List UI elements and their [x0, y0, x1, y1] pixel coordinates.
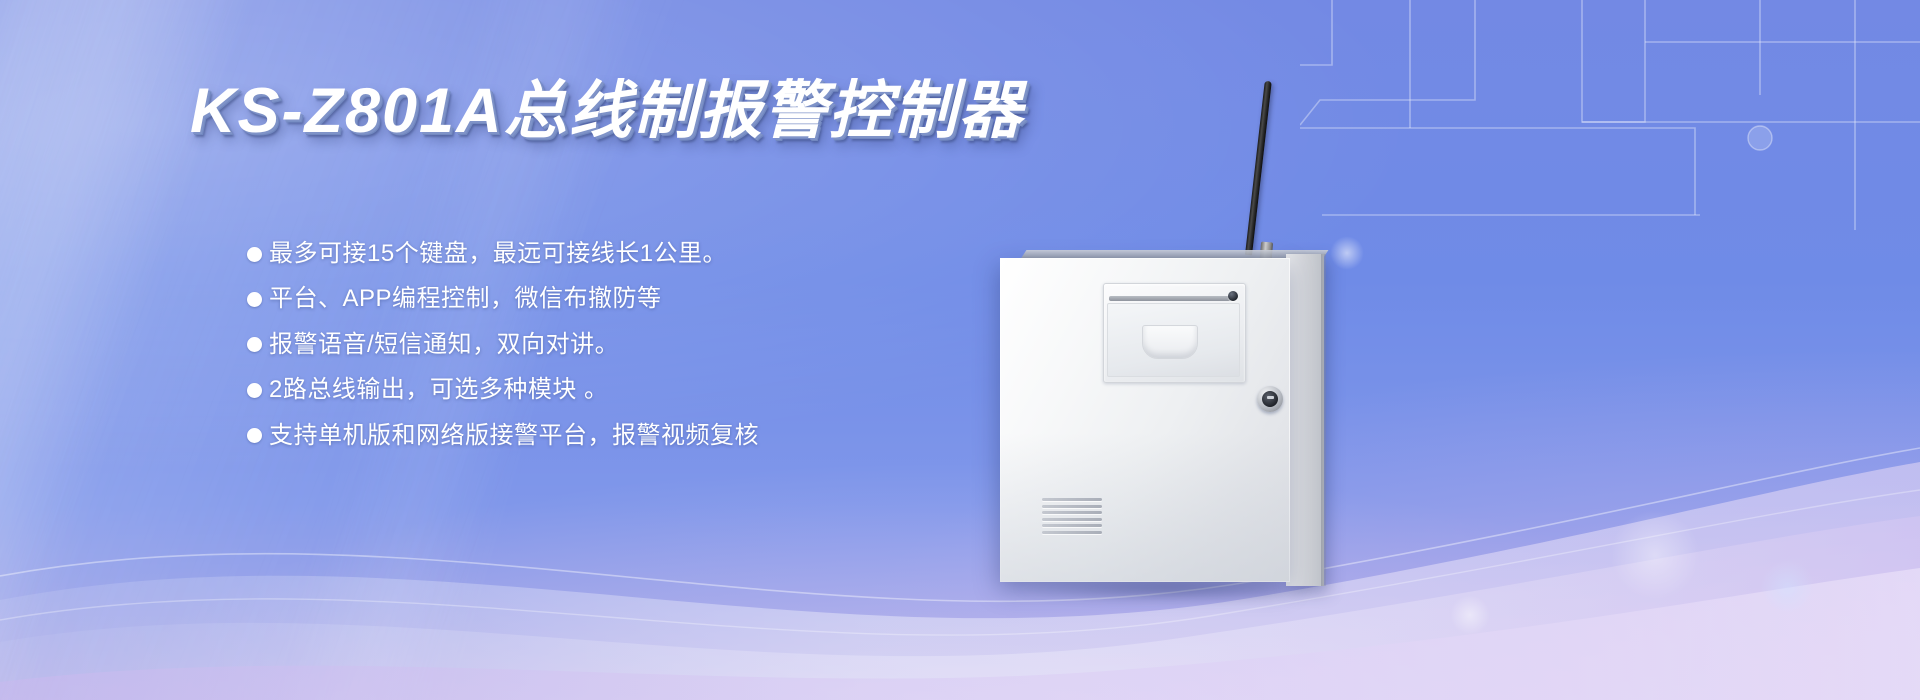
product-image	[1000, 80, 1540, 640]
list-item: 平台、APP编程控制，微信布撤防等	[247, 283, 759, 315]
feature-text: 最多可接15个键盘，最远可接线长1公里。	[269, 238, 727, 270]
product-shadow	[1010, 580, 1330, 602]
enclosure-side	[1286, 254, 1324, 586]
list-item: 最多可接15个键盘，最远可接线长1公里。	[247, 238, 759, 270]
antenna-icon	[1245, 81, 1272, 256]
list-item: 报警语音/短信通知，双向对讲。	[247, 329, 759, 361]
list-item: 支持单机版和网络版接警平台，报警视频复核	[247, 420, 759, 452]
filled-circle-bullet-icon	[247, 428, 262, 443]
product-banner: KS-Z801A总线制报警控制器 最多可接15个键盘，最远可接线长1公里。 平台…	[0, 0, 1920, 700]
feature-text: 支持单机版和网络版接警平台，报警视频复核	[269, 420, 759, 452]
filled-circle-bullet-icon	[247, 383, 262, 398]
list-item: 2路总线输出，可选多种模块 。	[247, 374, 759, 406]
filled-circle-bullet-icon	[247, 247, 262, 262]
printer-slot	[1109, 296, 1236, 301]
vent-grille	[1042, 498, 1102, 534]
filled-circle-bullet-icon	[247, 337, 262, 352]
feature-list: 最多可接15个键盘，最远可接线长1公里。 平台、APP编程控制，微信布撤防等 报…	[247, 238, 759, 452]
banner-title: KS-Z801A总线制报警控制器	[190, 78, 1024, 144]
printer-module	[1103, 283, 1246, 383]
feature-text: 2路总线输出，可选多种模块 。	[269, 374, 609, 406]
feature-text: 报警语音/短信通知，双向对讲。	[269, 329, 619, 361]
indicator-led-icon	[1228, 291, 1238, 301]
key-lock-icon	[1257, 386, 1283, 412]
printer-cover	[1107, 303, 1240, 377]
printer-handle	[1142, 325, 1198, 359]
enclosure-front-door	[1000, 258, 1290, 582]
filled-circle-bullet-icon	[247, 292, 262, 307]
feature-text: 平台、APP编程控制，微信布撤防等	[269, 283, 662, 315]
